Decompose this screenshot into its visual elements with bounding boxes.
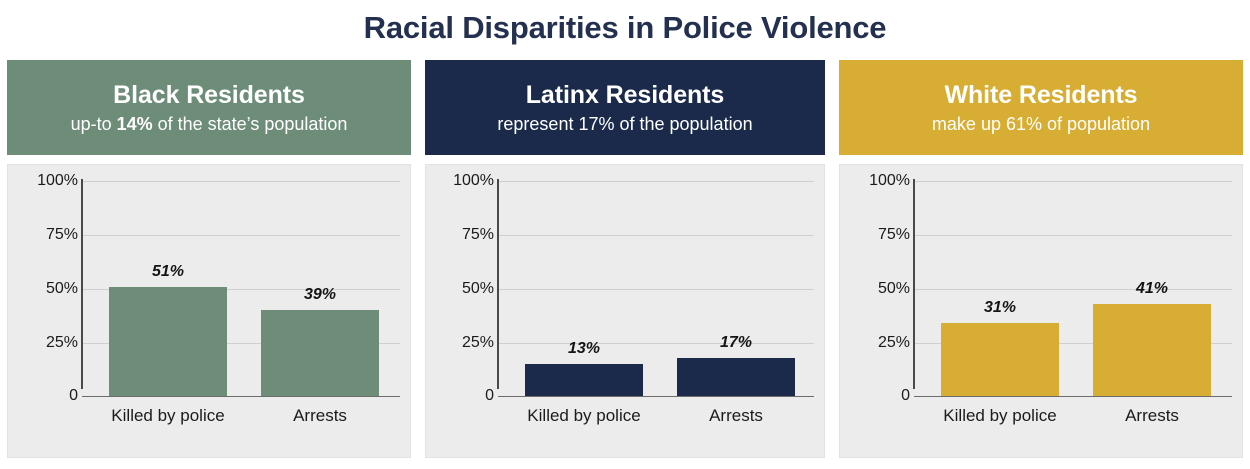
y-tick-label-25: 25% bbox=[432, 334, 494, 352]
y-tick-label-50: 50% bbox=[432, 280, 494, 298]
bar-arrests[interactable] bbox=[1093, 304, 1211, 396]
axis-baseline bbox=[914, 396, 1232, 397]
panel-header-title: Black Residents bbox=[113, 80, 305, 111]
y-tick-label-0: 0 bbox=[846, 387, 910, 405]
x-category-label-killed-by-police: Killed by police bbox=[925, 405, 1075, 426]
bar-value-label-arrests: 41% bbox=[1093, 280, 1211, 298]
y-tick-label-0: 0 bbox=[432, 387, 494, 405]
panel-white-residents: White Residents make up 61% of populatio… bbox=[832, 58, 1250, 462]
panel-header-title: White Residents bbox=[945, 80, 1138, 111]
bar-killed-by-police[interactable] bbox=[941, 323, 1059, 396]
panel-header-subtitle: up-to 14% of the state’s population bbox=[71, 112, 348, 136]
subtitle-prefix: up-to bbox=[71, 114, 117, 134]
y-tick-label-25: 25% bbox=[846, 334, 910, 352]
panel-header-black-residents: Black Residents up-to 14% of the state’s… bbox=[7, 60, 411, 155]
x-category-label-arrests: Arrests bbox=[1077, 405, 1227, 426]
gridline-100 bbox=[498, 181, 814, 182]
y-tick-label-50: 50% bbox=[14, 280, 78, 298]
y-axis-spine bbox=[81, 179, 83, 389]
x-category-label-arrests: Arrests bbox=[661, 405, 811, 426]
panel-header-subtitle: make up 61% of population bbox=[932, 112, 1150, 136]
y-axis-spine bbox=[497, 179, 499, 389]
subtitle-bold-value: 14% bbox=[117, 114, 153, 134]
chart-black-residents: 100% 75% 50% 25% 0 51% 39% Killed by pol… bbox=[7, 164, 411, 458]
infographic-root: Racial Disparities in Police Violence Bl… bbox=[0, 0, 1250, 469]
y-tick-label-100: 100% bbox=[432, 172, 494, 190]
gridline-100 bbox=[82, 181, 400, 182]
y-tick-label-75: 75% bbox=[432, 226, 494, 244]
plot-area: 100% 75% 50% 25% 0 51% 39% Killed by pol… bbox=[8, 165, 410, 457]
y-tick-label-25: 25% bbox=[14, 334, 78, 352]
y-axis-spine bbox=[913, 179, 915, 389]
bar-value-label-arrests: 39% bbox=[261, 286, 379, 304]
bar-value-label-killed-by-police: 13% bbox=[525, 340, 643, 358]
gridline-100 bbox=[914, 181, 1232, 182]
subtitle-prefix: represent 17% of the population bbox=[497, 114, 752, 134]
panel-black-residents: Black Residents up-to 14% of the state’s… bbox=[0, 58, 418, 462]
panel-header-title: Latinx Residents bbox=[526, 80, 724, 111]
bar-killed-by-police[interactable] bbox=[109, 287, 227, 397]
bar-arrests[interactable] bbox=[261, 310, 379, 396]
gridline-75 bbox=[498, 235, 814, 236]
panels-row: Black Residents up-to 14% of the state’s… bbox=[0, 58, 1250, 466]
x-category-label-killed-by-police: Killed by police bbox=[93, 405, 243, 426]
y-tick-label-100: 100% bbox=[14, 172, 78, 190]
y-tick-label-75: 75% bbox=[846, 226, 910, 244]
y-tick-label-50: 50% bbox=[846, 280, 910, 298]
gridline-75 bbox=[914, 235, 1232, 236]
y-tick-label-0: 0 bbox=[14, 387, 78, 405]
bar-value-label-arrests: 17% bbox=[677, 334, 795, 352]
gridline-50 bbox=[498, 289, 814, 290]
panel-header-white-residents: White Residents make up 61% of populatio… bbox=[839, 60, 1243, 155]
chart-latinx-residents: 100% 75% 50% 25% 0 13% 17% Killed by pol… bbox=[425, 164, 825, 458]
bar-killed-by-police[interactable] bbox=[525, 364, 643, 396]
panel-header-latinx-residents: Latinx Residents represent 17% of the po… bbox=[425, 60, 825, 155]
axis-baseline bbox=[498, 396, 814, 397]
page-title: Racial Disparities in Police Violence bbox=[0, 6, 1250, 50]
chart-white-residents: 100% 75% 50% 25% 0 31% 41% Killed by pol… bbox=[839, 164, 1243, 458]
plot-area: 100% 75% 50% 25% 0 13% 17% Killed by pol… bbox=[426, 165, 824, 457]
subtitle-suffix: of the state’s population bbox=[153, 114, 348, 134]
panel-latinx-residents: Latinx Residents represent 17% of the po… bbox=[418, 58, 832, 462]
x-category-label-arrests: Arrests bbox=[245, 405, 395, 426]
bar-value-label-killed-by-police: 31% bbox=[941, 299, 1059, 317]
plot-area: 100% 75% 50% 25% 0 31% 41% Killed by pol… bbox=[840, 165, 1242, 457]
gridline-75 bbox=[82, 235, 400, 236]
bar-arrests[interactable] bbox=[677, 358, 795, 397]
x-category-label-killed-by-police: Killed by police bbox=[509, 405, 659, 426]
subtitle-prefix: make up 61% of population bbox=[932, 114, 1150, 134]
bar-value-label-killed-by-police: 51% bbox=[109, 263, 227, 281]
y-tick-label-100: 100% bbox=[846, 172, 910, 190]
panel-header-subtitle: represent 17% of the population bbox=[497, 112, 752, 136]
y-tick-label-75: 75% bbox=[14, 226, 78, 244]
axis-baseline bbox=[82, 396, 400, 397]
